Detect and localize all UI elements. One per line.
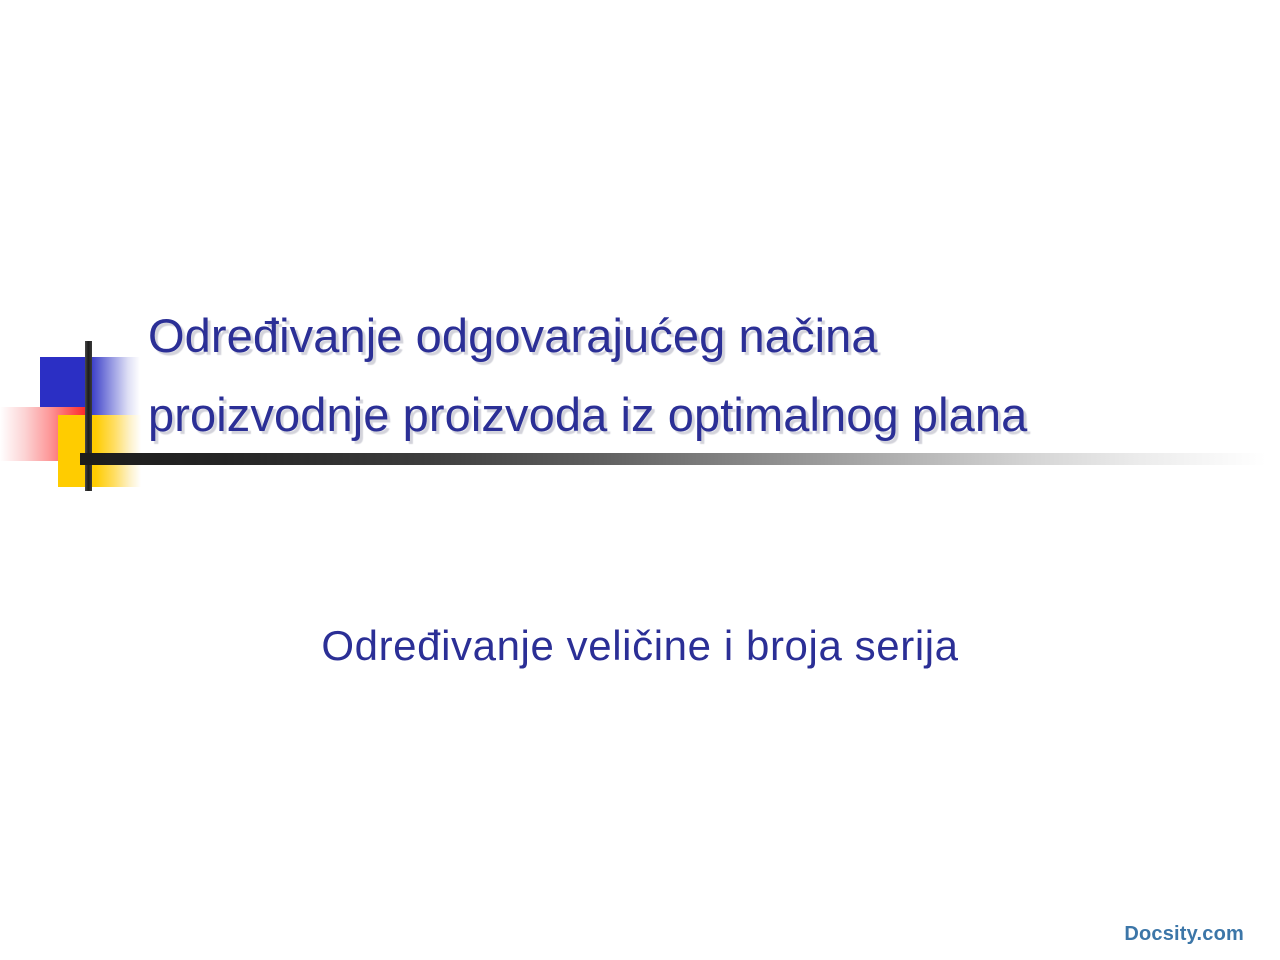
vertical-bar-decoration — [85, 341, 92, 491]
horizontal-rule-decoration — [80, 453, 1266, 465]
presentation-slide: Određivanje odgovarajućeg načina proizvo… — [0, 0, 1280, 960]
red-rectangle-decoration — [0, 407, 89, 461]
slide-title-line-1: Određivanje odgovarajućeg načina — [148, 296, 1238, 375]
slide-title-line-2: proizvodnje proizvoda iz optimalnog plan… — [148, 375, 1238, 454]
slide-title: Određivanje odgovarajućeg načina proizvo… — [148, 296, 1238, 454]
slide-subtitle: Određivanje veličine i broja serija — [0, 618, 1280, 674]
slide-decoration — [0, 0, 1280, 960]
blue-square-decoration — [40, 357, 140, 431]
docsity-watermark: Docsity.com — [1124, 923, 1244, 946]
slide-subtitle-text: Određivanje veličine i broja serija — [321, 618, 958, 674]
yellow-square-decoration — [58, 415, 141, 487]
